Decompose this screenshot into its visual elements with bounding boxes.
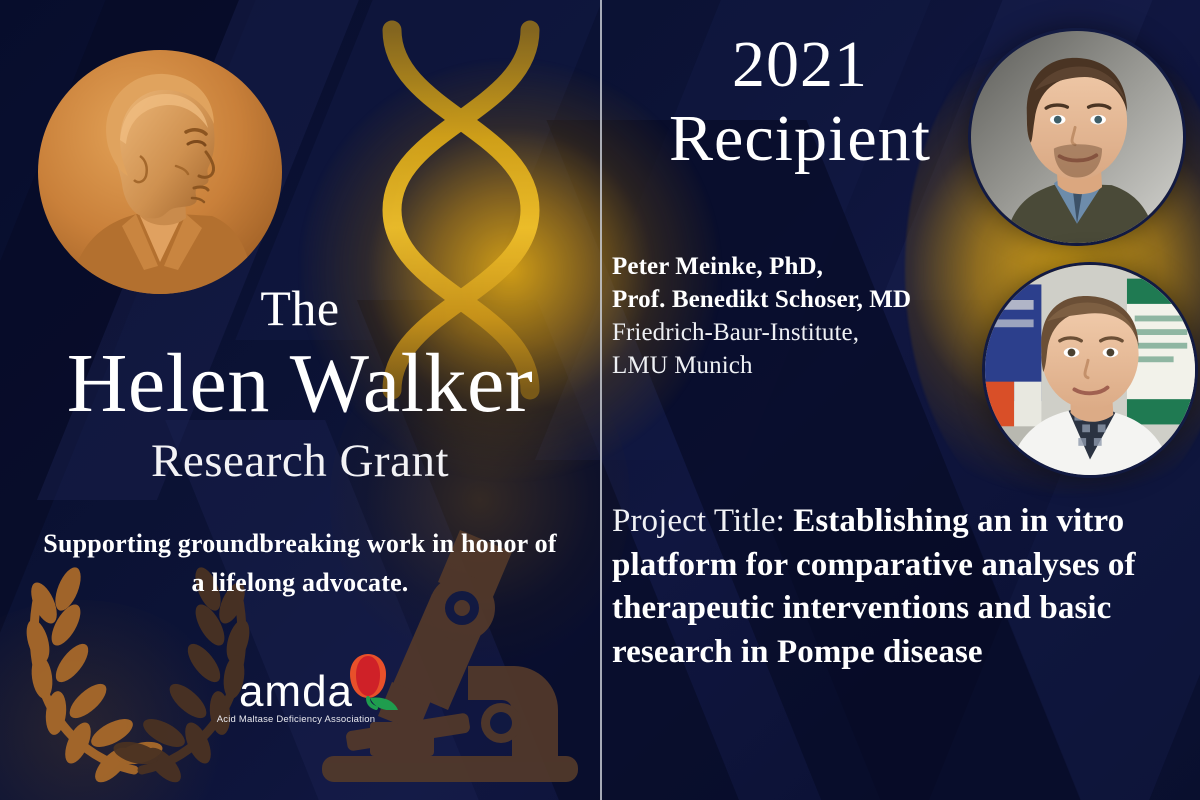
award-poster: The Helen Walker Research Grant Supporti… xyxy=(0,0,1200,800)
left-panel: The Helen Walker Research Grant Supporti… xyxy=(0,0,600,800)
recipient-affiliation-1: Friedrich-Baur-Institute, xyxy=(612,316,1002,349)
recipient-year-block: 2021 Recipient xyxy=(620,28,980,176)
panel-divider xyxy=(600,0,602,800)
grant-title-the: The xyxy=(0,283,600,333)
project-title-block: Project Title: Establishing an in vitro … xyxy=(612,500,1172,674)
recipient-name-2: Prof. Benedikt Schoser, MD xyxy=(612,283,1002,316)
grant-title-subtitle: Research Grant xyxy=(0,436,600,488)
project-title-label: Project Title: xyxy=(612,503,785,539)
amda-subtitle: Acid Maltase Deficiency Association xyxy=(216,714,376,725)
grant-title-block: The Helen Walker Research Grant xyxy=(0,283,600,488)
recipient-names-block: Peter Meinke, PhD, Prof. Benedikt Schose… xyxy=(612,250,1002,382)
grant-tagline: Supporting groundbreaking work in honor … xyxy=(40,524,560,602)
recipient-label: Recipient xyxy=(620,102,980,176)
recipient-year: 2021 xyxy=(620,28,980,102)
microscope-icon xyxy=(300,470,600,800)
right-panel: 2021 Recipient xyxy=(600,0,1200,800)
grant-title-name: Helen Walker xyxy=(0,339,600,428)
portrait-peter-meinke-image xyxy=(971,31,1183,243)
tulip-icon xyxy=(336,648,400,710)
portrait-peter-meinke xyxy=(968,28,1186,246)
portrait-benedikt-schoser xyxy=(982,262,1198,478)
helen-walker-medallion xyxy=(36,48,284,296)
amda-logo: amda Acid Maltase Deficiency Association xyxy=(216,672,376,725)
portrait-benedikt-schoser-image xyxy=(985,265,1195,475)
recipient-affiliation-2: LMU Munich xyxy=(612,349,1002,382)
recipient-name-1: Peter Meinke, PhD, xyxy=(612,250,1002,283)
